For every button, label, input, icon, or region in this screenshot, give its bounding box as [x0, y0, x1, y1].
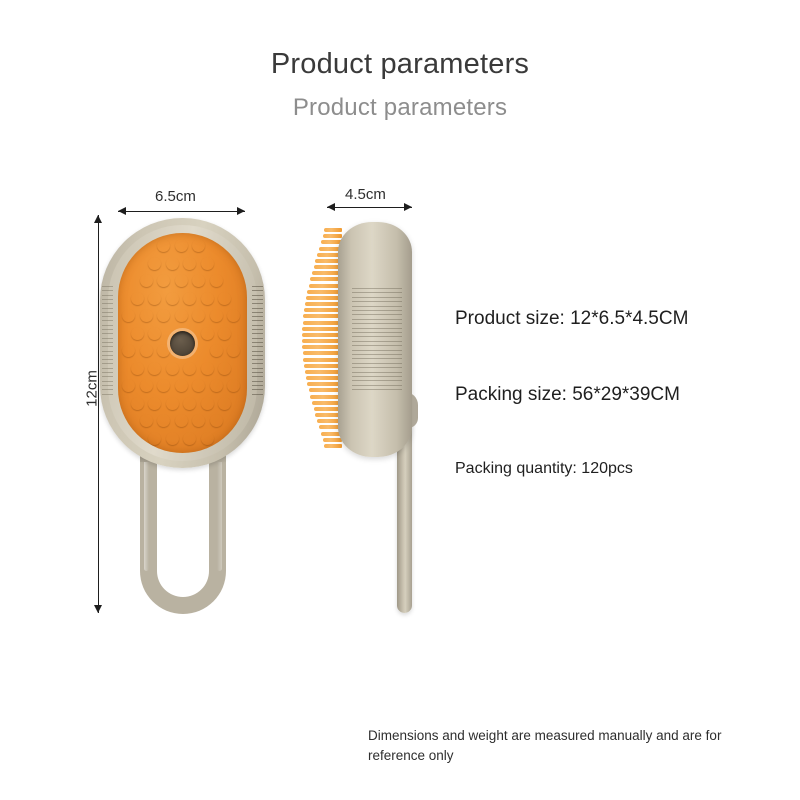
bristle-nub — [183, 362, 196, 375]
bristle-nub — [166, 362, 179, 375]
comb-tooth — [252, 290, 263, 291]
bristle-nub — [175, 414, 188, 427]
bristle-nub — [131, 292, 144, 305]
bristle-nub — [210, 344, 223, 357]
comb-tooth — [252, 320, 263, 321]
comb-ridge — [352, 319, 402, 320]
bristle-nub — [157, 344, 170, 357]
bristle — [323, 438, 342, 442]
bristle-nub — [140, 379, 153, 392]
product-front-view — [100, 218, 265, 468]
spec-packing-size: Packing size: 56*29*39CM — [455, 384, 680, 406]
bristle-nub — [148, 257, 161, 270]
bristle-nub — [175, 379, 188, 392]
bristle-nub — [218, 292, 231, 305]
bristle-nub — [148, 292, 161, 305]
comb-tooth — [102, 394, 113, 395]
bristle — [302, 333, 342, 337]
comb-ridge — [352, 367, 402, 368]
comb-ridge — [352, 354, 402, 355]
dimension-arrow-front-width — [118, 207, 245, 216]
bristle-nub — [210, 379, 223, 392]
bristle-nub — [131, 362, 144, 375]
comb-ridge — [352, 310, 402, 311]
comb-tooth — [252, 368, 263, 369]
comb-ridge — [352, 350, 402, 351]
comb-tooth — [102, 333, 113, 334]
bristle-nub — [148, 362, 161, 375]
comb-tooth — [102, 376, 113, 377]
bristle — [303, 351, 342, 355]
bristle-nub — [175, 239, 188, 252]
bristle-nub — [183, 292, 196, 305]
bristle-nub — [218, 362, 231, 375]
comb-tooth — [102, 355, 113, 356]
product-side-view — [300, 222, 420, 457]
bristle-nub — [148, 397, 161, 410]
comb-tooth — [252, 385, 263, 386]
arrow-bar — [118, 211, 245, 212]
comb-ridge — [352, 306, 402, 307]
bristle — [309, 388, 342, 392]
bristle — [304, 364, 342, 368]
comb-ridge — [352, 372, 402, 373]
bristle-nub — [122, 309, 135, 322]
bristle-nub — [192, 309, 205, 322]
comb-tooth — [252, 299, 263, 300]
bristle-nub — [140, 414, 153, 427]
handle-highlight — [217, 452, 222, 571]
bristle-nub — [140, 274, 153, 287]
comb-tooth — [252, 312, 263, 313]
bristle — [309, 284, 342, 288]
comb-tooth — [102, 299, 113, 300]
arrow-head-bottom-icon — [94, 605, 102, 613]
bristle-nub — [227, 344, 240, 357]
comb-tooth — [252, 329, 263, 330]
comb-ridge — [352, 389, 402, 390]
handle-highlight — [144, 452, 149, 571]
comb-tooth — [102, 290, 113, 291]
bristle-nub — [192, 414, 205, 427]
bristle — [303, 321, 342, 325]
bristle — [302, 345, 342, 349]
dimension-arrow-side-width — [327, 203, 412, 212]
comb-tooth — [252, 303, 263, 304]
bristle — [305, 370, 342, 374]
bristle — [307, 290, 342, 294]
comb-ridge — [352, 380, 402, 381]
bristle-nub — [201, 362, 214, 375]
bristle-nub — [183, 432, 196, 445]
comb-tooth — [252, 363, 263, 364]
comb-tooth — [102, 363, 113, 364]
bristle-nub — [183, 257, 196, 270]
comb-ridge — [352, 328, 402, 329]
bristle-nub — [166, 257, 179, 270]
comb-tooth — [102, 368, 113, 369]
bristle — [307, 382, 342, 386]
bristle-nub — [183, 397, 196, 410]
comb-tooth — [252, 342, 263, 343]
comb-ridge — [352, 301, 402, 302]
comb-tooth — [252, 355, 263, 356]
bristle-row — [300, 228, 342, 450]
page-title: Product parameters — [0, 48, 800, 81]
bristle — [303, 358, 342, 362]
comb-tooth — [252, 376, 263, 377]
comb-tooth — [102, 385, 113, 386]
bristle — [303, 314, 342, 318]
comb-tooth — [102, 342, 113, 343]
bristle-nub — [210, 274, 223, 287]
comb-teeth-left — [102, 286, 113, 398]
bristle-nub — [201, 327, 214, 340]
comb-tooth — [102, 372, 113, 373]
dimension-label-front-height: 12cm — [84, 369, 101, 409]
bristle-nub — [201, 432, 214, 445]
comb-tooth — [252, 338, 263, 339]
bristle-nub — [157, 414, 170, 427]
comb-tooth — [252, 295, 263, 296]
bristle — [324, 228, 342, 232]
bristle-nub — [175, 309, 188, 322]
bristle-nub — [157, 274, 170, 287]
bristle-nub — [166, 397, 179, 410]
comb-ridge — [352, 358, 402, 359]
comb-ridge — [352, 314, 402, 315]
spec-product-size: Product size: 12*6.5*4.5CM — [455, 308, 688, 330]
bristle-nub — [140, 344, 153, 357]
bristle-nub — [157, 309, 170, 322]
bristle-nub — [122, 379, 135, 392]
bristle-nub — [166, 432, 179, 445]
comb-tooth — [102, 320, 113, 321]
comb-ridge — [352, 341, 402, 342]
bristle-nub — [131, 397, 144, 410]
dimension-label-front-width: 6.5cm — [155, 188, 196, 205]
comb-tooth — [102, 295, 113, 296]
comb-tooth — [102, 286, 113, 287]
comb-ridge — [352, 323, 402, 324]
comb-ridge — [352, 292, 402, 293]
bristle — [306, 376, 342, 380]
bristle — [302, 327, 342, 331]
bristle-nub — [166, 292, 179, 305]
bristle-nub — [192, 239, 205, 252]
bristle-nub — [192, 379, 205, 392]
comb-tooth — [102, 338, 113, 339]
comb-tooth — [102, 303, 113, 304]
bristle — [302, 339, 342, 343]
bristle-nub — [157, 239, 170, 252]
bristle-nub — [148, 432, 161, 445]
silicone-bristle-pad — [118, 233, 247, 453]
comb-ridge — [352, 385, 402, 386]
footer-note: Dimensions and weight are measured manua… — [368, 726, 768, 765]
bristle — [324, 444, 342, 448]
comb-tooth — [102, 359, 113, 360]
bristle — [304, 308, 342, 312]
comb-tooth — [252, 394, 263, 395]
comb-tooth — [252, 372, 263, 373]
bristle-nub — [122, 344, 135, 357]
comb-tooth — [102, 329, 113, 330]
comb-tooth — [102, 316, 113, 317]
bristle-nub — [140, 309, 153, 322]
comb-ridge — [352, 345, 402, 346]
comb-ridges-side — [352, 288, 402, 393]
bristle-nub — [227, 379, 240, 392]
bristle — [306, 296, 342, 300]
arrow-bar — [98, 215, 99, 613]
product-parameters-page: Product parameters Product parameters 6.… — [0, 0, 800, 800]
dimension-label-side-width: 4.5cm — [345, 186, 386, 203]
comb-tooth — [252, 389, 263, 390]
comb-tooth — [102, 308, 113, 309]
comb-tooth — [252, 308, 263, 309]
bristle-nub — [201, 292, 214, 305]
comb-tooth — [252, 286, 263, 287]
product-front-handle — [140, 452, 226, 614]
comb-tooth — [252, 351, 263, 352]
comb-tooth — [102, 325, 113, 326]
comb-tooth — [252, 333, 263, 334]
comb-ridge — [352, 297, 402, 298]
comb-tooth — [102, 351, 113, 352]
comb-tooth — [252, 346, 263, 347]
comb-tooth — [102, 346, 113, 347]
bristle-nub — [201, 257, 214, 270]
arrow-head-right-icon — [404, 203, 412, 211]
bristle-nub — [210, 309, 223, 322]
comb-tooth — [252, 359, 263, 360]
page-subtitle: Product parameters — [0, 94, 800, 122]
comb-ridge — [352, 288, 402, 289]
comb-tooth — [252, 325, 263, 326]
comb-ridge — [352, 376, 402, 377]
bristle-nub — [218, 327, 231, 340]
spec-packing-quantity: Packing quantity: 120pcs — [455, 460, 633, 478]
comb-tooth — [102, 381, 113, 382]
comb-ridge — [352, 336, 402, 337]
bristle-nub — [201, 397, 214, 410]
bristle-nub — [218, 397, 231, 410]
comb-ridge — [352, 332, 402, 333]
comb-tooth — [252, 381, 263, 382]
bristle-nub — [175, 274, 188, 287]
bristle-nub — [131, 327, 144, 340]
steam-outlet-hole — [170, 331, 195, 356]
bristle-nub — [210, 414, 223, 427]
bristle-nub — [157, 379, 170, 392]
bristle-nub — [192, 274, 205, 287]
comb-tooth — [102, 389, 113, 390]
bristle-nub — [227, 309, 240, 322]
arrow-head-right-icon — [237, 207, 245, 215]
bristle-nub — [148, 327, 161, 340]
comb-teeth-right — [252, 286, 263, 398]
bristle — [323, 234, 342, 238]
comb-tooth — [252, 316, 263, 317]
comb-tooth — [102, 312, 113, 313]
comb-ridge — [352, 363, 402, 364]
arrow-bar — [327, 207, 412, 208]
bristle — [305, 302, 342, 306]
